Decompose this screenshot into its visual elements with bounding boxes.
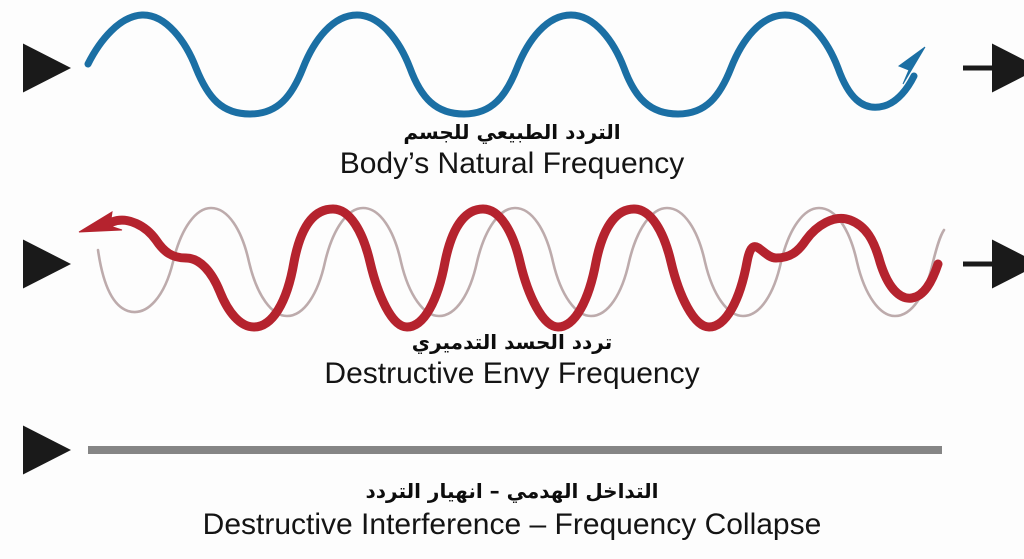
blue-sine-wave xyxy=(88,15,914,114)
label-envy-frequency-arabic: تردد الحسد التدميري xyxy=(0,329,1024,355)
label-envy-frequency: تردد الحسد التدميري Destructive Envy Fre… xyxy=(0,329,1024,393)
flat-line-bar xyxy=(88,446,942,454)
label-natural-frequency: التردد الطبيعي للجسم Body’s Natural Freq… xyxy=(0,119,1024,183)
label-natural-frequency-english: Body’s Natural Frequency xyxy=(0,145,1024,183)
label-frequency-collapse: التداخل الهدمي – انهيار التردد Destructi… xyxy=(0,478,1024,544)
blue-wave-arrowhead xyxy=(899,47,925,84)
label-frequency-collapse-english: Destructive Interference – Frequency Col… xyxy=(0,505,1024,544)
envy-frequency-wave-group xyxy=(28,208,997,327)
natural-frequency-wave-group xyxy=(28,15,997,114)
label-frequency-collapse-arabic: التداخل الهدمي – انهيار التردد xyxy=(0,478,1024,505)
frequency-collapse-group xyxy=(28,446,942,454)
faint-counter-wave xyxy=(98,208,944,316)
diagram-canvas: التردد الطبيعي للجسم Body’s Natural Freq… xyxy=(0,0,1024,559)
waves-layer xyxy=(0,0,1024,559)
red-wave-arrowhead xyxy=(79,212,122,232)
label-natural-frequency-arabic: التردد الطبيعي للجسم xyxy=(0,119,1024,145)
red-envy-wave xyxy=(112,209,938,327)
label-envy-frequency-english: Destructive Envy Frequency xyxy=(0,355,1024,393)
